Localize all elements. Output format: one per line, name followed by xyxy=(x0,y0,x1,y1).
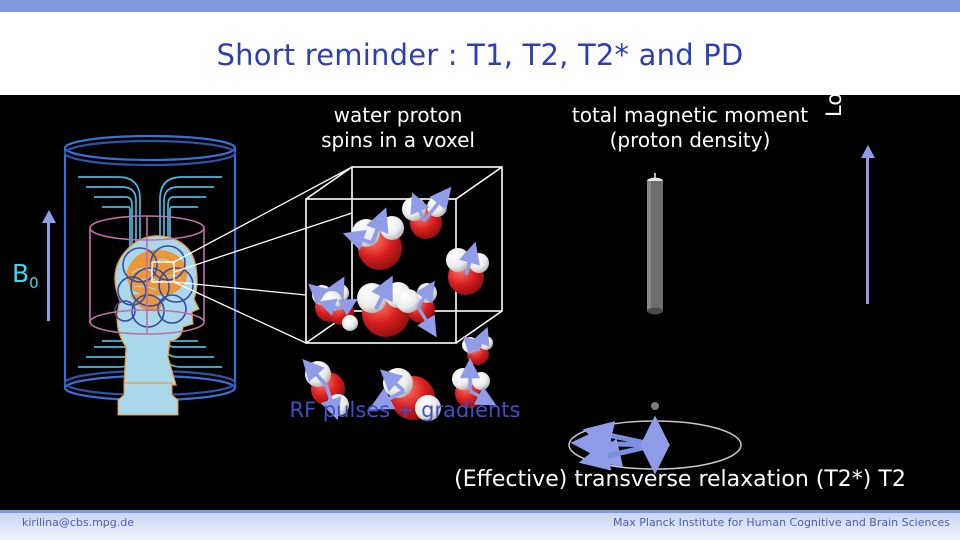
footer-rule xyxy=(0,510,960,513)
voxel-caption: water proton spins in a voxel xyxy=(288,103,508,153)
footer-email[interactable]: kirilina@cbs.mpg.de xyxy=(22,516,134,529)
slide-root: Short reminder : T1, T2, T2* and PD xyxy=(0,0,960,540)
top-accent-bar xyxy=(0,0,960,12)
moment-caption: total magnetic moment (proton density) xyxy=(530,103,850,153)
diagram-stage: B0 water proton spins in a voxel total m… xyxy=(0,95,960,510)
b0-label: B0 xyxy=(12,259,39,292)
title-area: Short reminder : T1, T2, T2* and PD xyxy=(0,12,960,95)
footer-institute: Max Planck Institute for Human Cognitive… xyxy=(613,516,950,529)
page-title: Short reminder : T1, T2, T2* and PD xyxy=(0,38,960,72)
transverse-plane xyxy=(569,402,741,469)
magnetic-moment-vector xyxy=(647,173,663,314)
mri-scanner-illustration xyxy=(0,95,960,510)
water-molecules xyxy=(305,191,493,421)
longitudinal-relaxation-caption: Longitudinal relaxation T1 xyxy=(822,95,862,117)
rf-pulses-caption: RF pulses + gradients xyxy=(255,398,555,422)
transverse-relaxation-caption: (Effective) transverse relaxation (T2*) … xyxy=(400,467,960,492)
